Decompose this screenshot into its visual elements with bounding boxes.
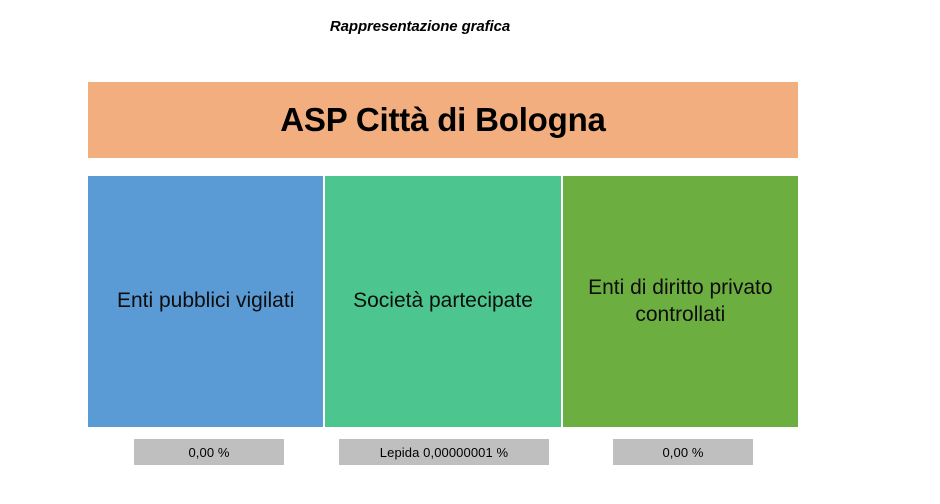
badge-value: 0,00 % xyxy=(188,445,229,460)
panel-societa-partecipate: Società partecipate xyxy=(325,176,560,427)
badge-societa-partecipate: Lepida 0,00000001 % xyxy=(339,439,549,465)
percentage-badges: 0,00 % Lepida 0,00000001 % 0,00 % xyxy=(88,439,798,467)
category-panels: Enti pubblici vigilati Società partecipa… xyxy=(88,176,798,427)
badge-enti-diritto-privato-controllati: 0,00 % xyxy=(613,439,753,465)
panel-label: Società partecipate xyxy=(345,288,541,315)
badge-enti-pubblici-vigilati: 0,00 % xyxy=(134,439,284,465)
badge-value: 0,00 % xyxy=(662,445,703,460)
panel-label: Enti pubblici vigilati xyxy=(109,288,302,315)
diagram-canvas: Rappresentazione grafica ASP Città di Bo… xyxy=(0,0,940,504)
badge-value: Lepida 0,00000001 % xyxy=(380,445,508,460)
page-title: Rappresentazione grafica xyxy=(0,18,840,35)
organization-header-band: ASP Città di Bologna xyxy=(88,82,798,158)
panel-enti-diritto-privato-controllati: Enti di diritto privato controllati xyxy=(563,176,798,427)
panel-enti-pubblici-vigilati: Enti pubblici vigilati xyxy=(88,176,323,427)
organization-name: ASP Città di Bologna xyxy=(280,102,605,138)
panel-label: Enti di diritto privato controllati xyxy=(563,275,798,329)
